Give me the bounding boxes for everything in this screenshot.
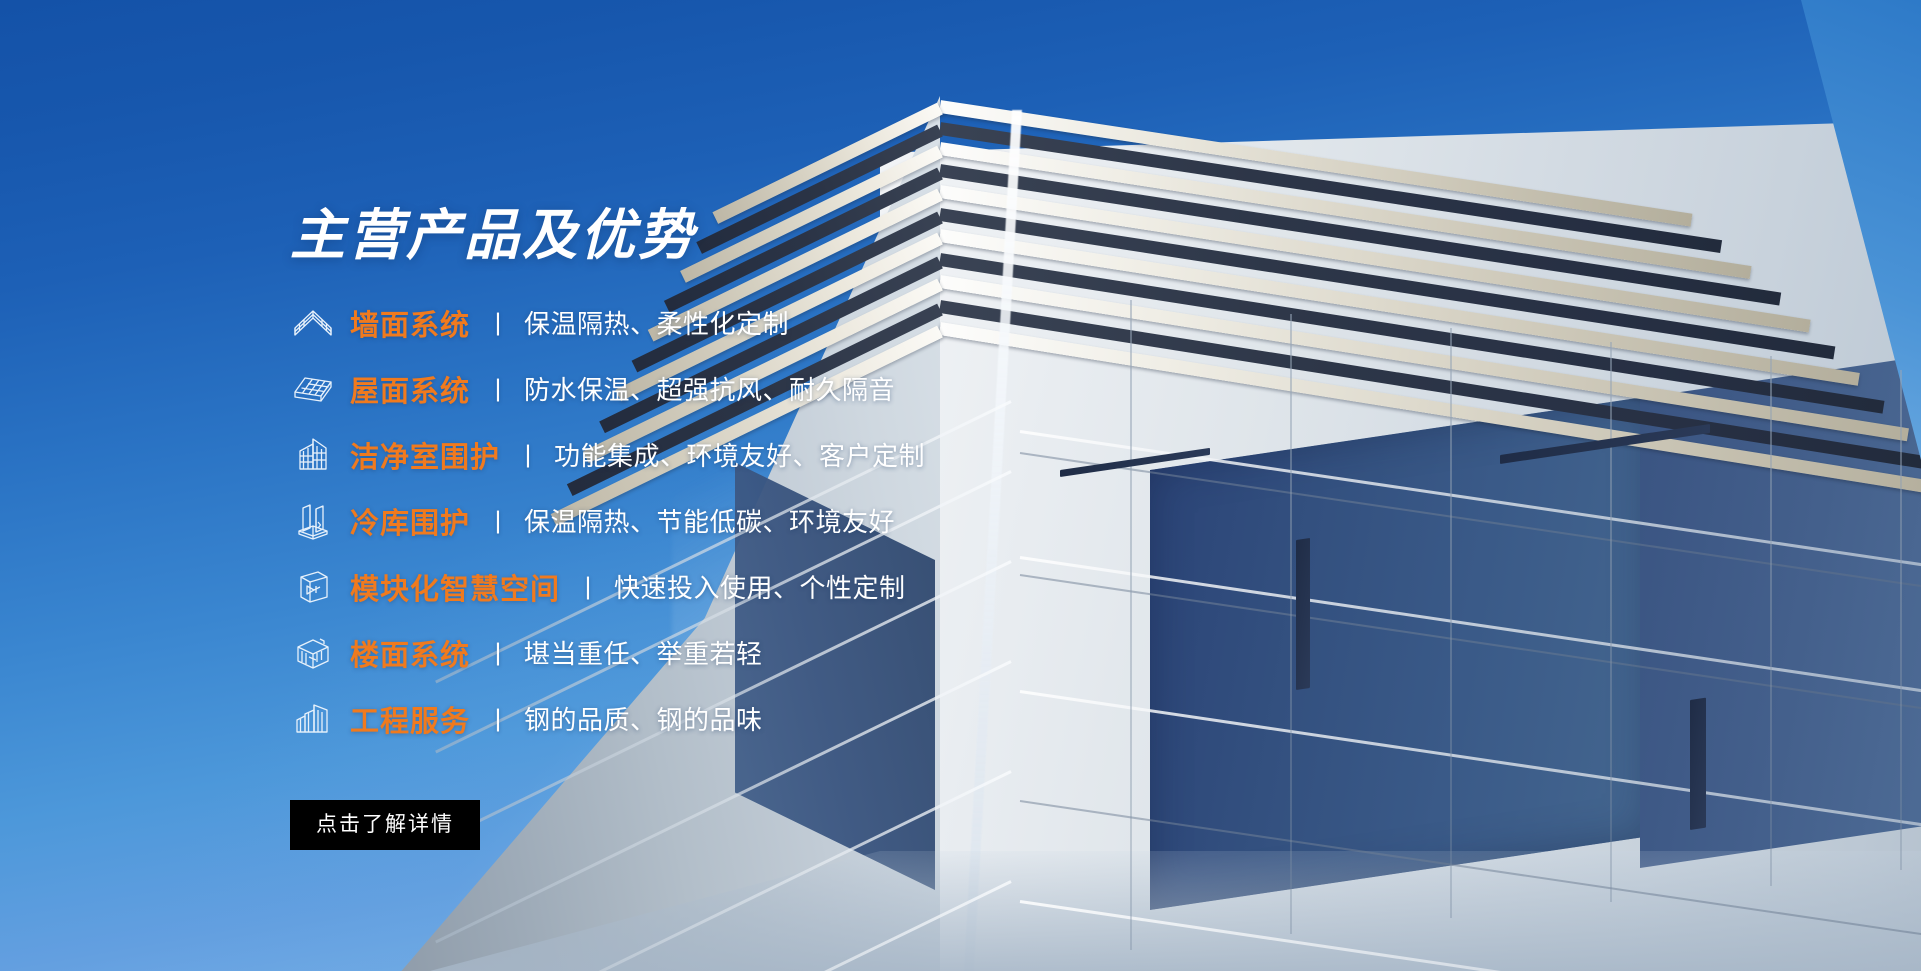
product-name: 冷库围护	[350, 500, 470, 542]
facade-vertical-joint	[1130, 300, 1132, 950]
cleanroom-building-icon	[290, 435, 336, 475]
product-name: 模块化智慧空间	[350, 566, 560, 608]
navy-panel-right	[1150, 396, 1650, 910]
list-item[interactable]: 冷库围护 丨 保温隔热、节能低碳、环境友好	[290, 498, 1110, 543]
floor-deck-icon	[290, 633, 336, 673]
banner-content: 主营产品及优势 墙面系统 丨 保温隔热、柔性化定制	[0, 0, 900, 971]
facade-window-slot	[1296, 538, 1310, 690]
list-item[interactable]: 模块化智慧空间 丨 快速投入使用、个性定制	[290, 564, 1110, 609]
facade-vertical-joint	[1900, 370, 1902, 870]
divider-glyph: 丨	[489, 701, 507, 736]
product-description: 钢的品质、钢的品味	[524, 700, 763, 737]
product-name: 楼面系统	[350, 632, 470, 674]
list-item[interactable]: 屋面系统 丨 防水保温、超强抗风、耐久隔音	[290, 366, 1110, 411]
product-name: 洁净室围护	[350, 434, 500, 476]
cold-storage-icon	[290, 501, 336, 541]
learn-more-button[interactable]: 点击了解详情	[290, 800, 480, 850]
roof-panel-icon	[290, 369, 336, 409]
product-description: 快速投入使用、个性定制	[614, 568, 906, 605]
facade-vertical-joint	[1770, 356, 1772, 886]
product-name: 墙面系统	[350, 302, 470, 344]
divider-glyph: 丨	[489, 305, 507, 340]
product-description: 保温隔热、节能低碳、环境友好	[524, 502, 895, 539]
product-advantages-banner: 主营产品及优势 墙面系统 丨 保温隔热、柔性化定制	[0, 0, 1921, 971]
product-description: 保温隔热、柔性化定制	[524, 304, 789, 341]
modular-cube-icon	[290, 567, 336, 607]
product-description: 防水保温、超强抗风、耐久隔音	[524, 370, 895, 407]
facade-vertical-joint	[1610, 342, 1612, 902]
product-description: 功能集成、环境友好、客户定制	[554, 436, 925, 473]
divider-glyph: 丨	[489, 371, 507, 406]
product-description: 堪当重任、举重若轻	[524, 634, 763, 671]
list-item[interactable]: 楼面系统 丨 堪当重任、举重若轻	[290, 630, 1110, 675]
list-item[interactable]: 墙面系统 丨 保温隔热、柔性化定制	[290, 300, 1110, 345]
facade-vertical-joint	[1450, 328, 1452, 918]
list-item[interactable]: 洁净室围护 丨 功能集成、环境友好、客户定制	[290, 432, 1110, 477]
divider-glyph: 丨	[489, 635, 507, 670]
divider-glyph: 丨	[519, 437, 537, 472]
product-name: 工程服务	[350, 698, 470, 740]
facade-vertical-joint	[1290, 314, 1292, 934]
product-list: 墙面系统 丨 保温隔热、柔性化定制 屋面系统 丨 防水保温、超强抗	[290, 300, 1110, 762]
divider-glyph: 丨	[489, 503, 507, 538]
page-title: 主营产品及优势	[290, 208, 696, 263]
list-item[interactable]: 工程服务 丨 钢的品质、钢的品味	[290, 696, 1110, 741]
product-name: 屋面系统	[350, 368, 470, 410]
wall-panel-icon	[290, 303, 336, 343]
facade-window-slot	[1690, 698, 1706, 830]
factory-service-icon	[290, 699, 336, 739]
divider-glyph: 丨	[579, 569, 597, 604]
